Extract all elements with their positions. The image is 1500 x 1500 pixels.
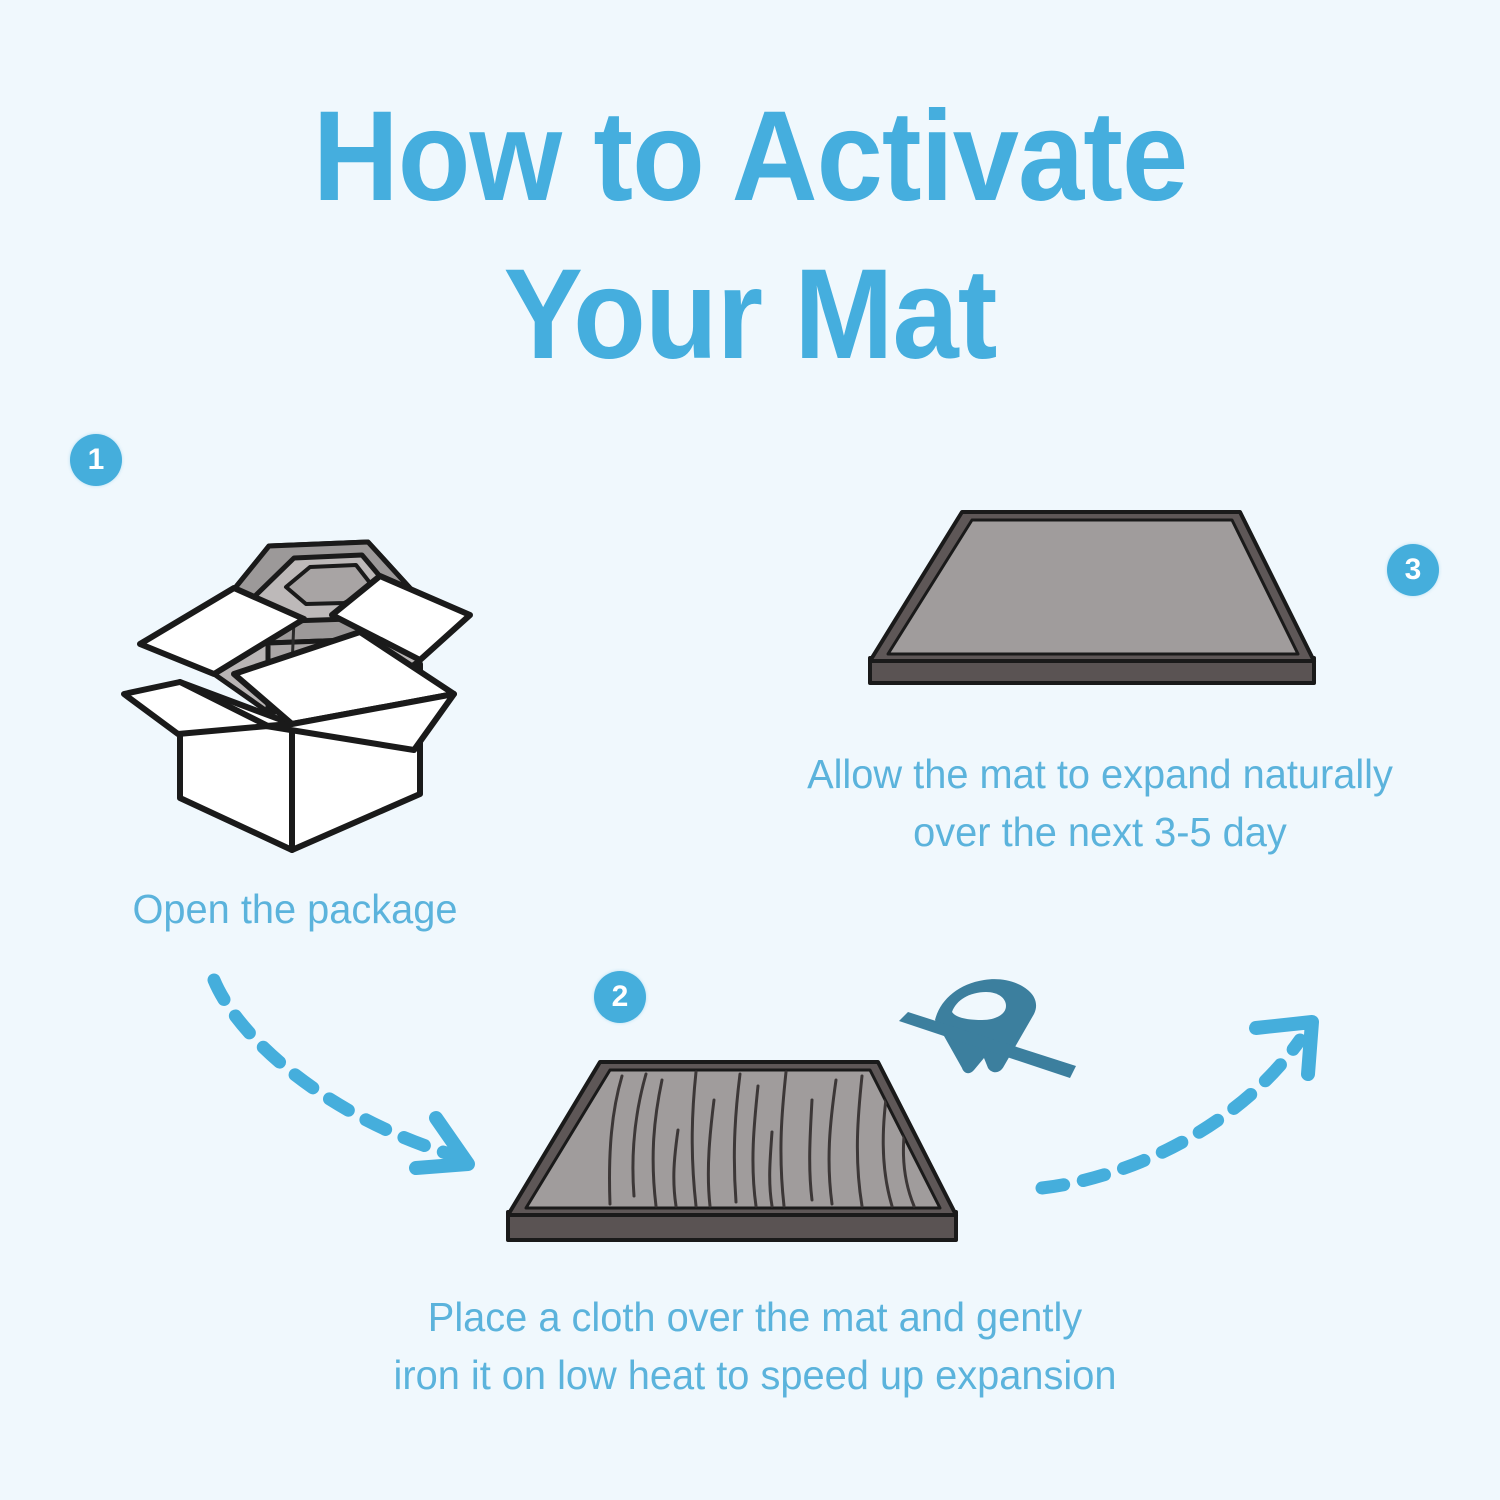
step-3-number: 3 (1405, 555, 1422, 585)
infographic-canvas: How to Activate Your Mat 1 (0, 0, 1500, 1500)
step-3-badge: 3 (1387, 544, 1439, 596)
dashed-arrow-down-right-icon (168, 968, 508, 1198)
step-1-badge: 1 (70, 434, 122, 486)
step-1-caption: Open the package (48, 880, 543, 938)
step-2-caption: Place a cloth over the mat and gently ir… (236, 1288, 1274, 1404)
page-title: How to Activate Your Mat (53, 78, 1448, 394)
flat-mat-icon (862, 486, 1362, 706)
dashed-arrow-up-right-icon (1008, 998, 1348, 1228)
step-3-caption: Allow the mat to expand naturally over t… (702, 745, 1497, 861)
mat-with-cloth-icon (500, 1040, 1000, 1265)
step-1-number: 1 (88, 445, 105, 475)
cardboard-box-icon (118, 498, 488, 864)
step-2-number: 2 (612, 982, 629, 1012)
step-2-badge: 2 (594, 971, 646, 1023)
